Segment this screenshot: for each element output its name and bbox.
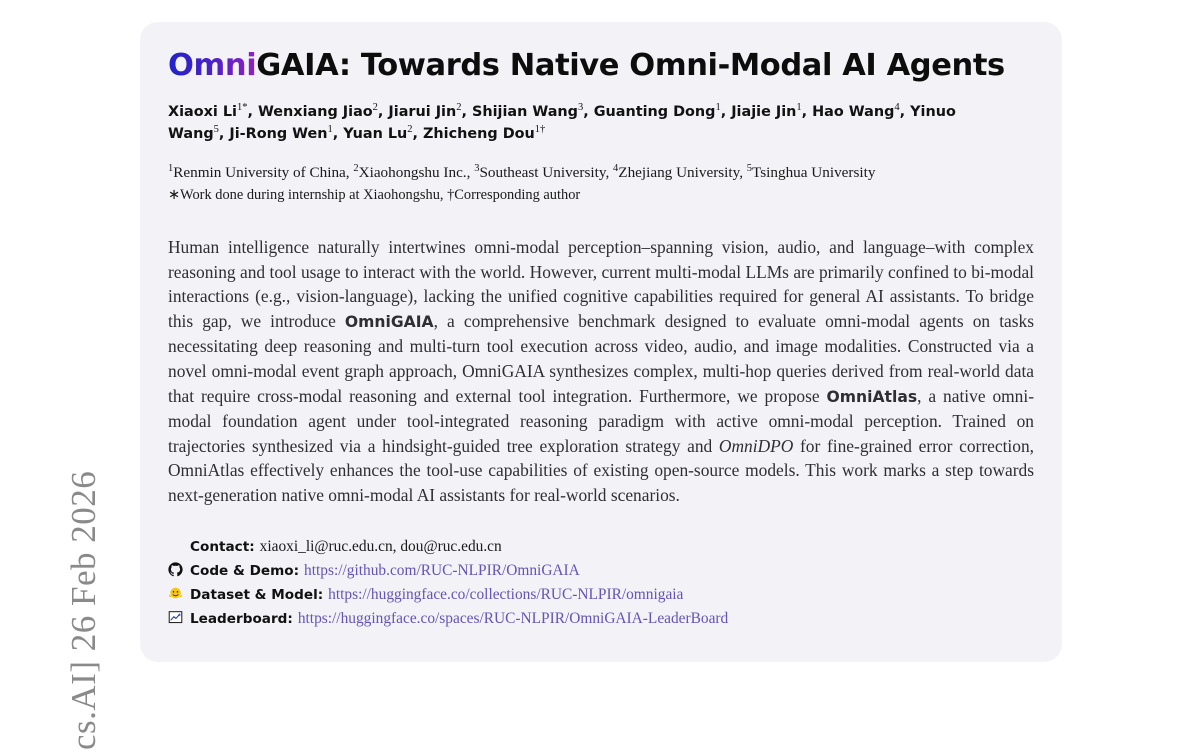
author-affiliation-marker: 1 xyxy=(796,102,801,113)
github-icon xyxy=(168,561,185,576)
links-block: Contact: xiaoxi_li@ruc.edu.cn, dou@ruc.e… xyxy=(168,535,1034,631)
author-affiliation-marker: 2 xyxy=(456,102,461,113)
dataset-model-row[interactable]: Dataset & Model: https://huggingface.co/… xyxy=(168,583,1034,607)
title-highlight: Omni xyxy=(168,48,256,83)
chart-increasing-icon xyxy=(168,609,185,624)
title-rest: GAIA: Towards Native Omni-Modal AI Agent… xyxy=(256,48,1004,83)
affiliation-name: Renmin University of China, xyxy=(173,164,349,181)
dataset-model-url[interactable]: https://huggingface.co/collections/RUC-N… xyxy=(328,583,683,607)
leaderboard-row[interactable]: Leaderboard: https://huggingface.co/spac… xyxy=(168,607,1034,631)
author-affiliation-marker: 1* xyxy=(237,102,248,113)
author-name: Jiajie Jin xyxy=(731,104,796,120)
code-demo-label: Code & Demo: xyxy=(190,559,299,583)
affiliation-footnote: ∗Work done during internship at Xiaohong… xyxy=(168,184,1034,207)
author-name: Hao Wang xyxy=(812,104,894,120)
affiliation-name: Xiaohongshu Inc., xyxy=(359,164,471,181)
dataset-model-label: Dataset & Model: xyxy=(190,583,323,607)
author-name: Jiarui Jin xyxy=(388,104,456,120)
affiliation-name: Tsinghua University xyxy=(752,164,875,181)
affiliation-list: 1Renmin University of China, 2Xiaohongsh… xyxy=(168,161,1034,207)
contact-label: Contact: xyxy=(190,535,255,559)
author-name: Shijian Wang xyxy=(472,104,578,120)
author-affiliation-marker: 1† xyxy=(535,124,546,135)
arxiv-margin-stamp: cs.AI] 26 Feb 2026 xyxy=(0,0,110,648)
author-affiliation-marker: 2 xyxy=(407,124,412,135)
author-affiliation-marker: 4 xyxy=(894,102,899,113)
code-demo-url[interactable]: https://github.com/RUC-NLPIR/OmniGAIA xyxy=(304,559,580,583)
page-title: OmniGAIA: Towards Native Omni-Modal AI A… xyxy=(168,48,1034,87)
hugging-face-icon xyxy=(168,585,185,600)
author-name: Ji-Rong Wen xyxy=(229,126,327,142)
author-name: Guanting Dong xyxy=(594,104,716,120)
author-name: Zhicheng Dou xyxy=(423,126,535,142)
author-list: Xiaoxi Li1*, Wenxiang Jiao2, Jiarui Jin2… xyxy=(168,101,968,145)
leaderboard-url[interactable]: https://huggingface.co/spaces/RUC-NLPIR/… xyxy=(298,607,728,631)
author-affiliation-marker: 5 xyxy=(214,124,219,135)
author-name: Yuan Lu xyxy=(343,126,407,142)
contact-emails: xiaoxi_li@ruc.edu.cn, dou@ruc.edu.cn xyxy=(260,535,502,559)
abstract-bold-omnigaia: OmniGAIA xyxy=(345,313,434,331)
paper-preview-card: OmniGAIA: Towards Native Omni-Modal AI A… xyxy=(140,22,1062,662)
author-affiliation-marker: 1 xyxy=(715,102,720,113)
abstract-text: Human intelligence naturally intertwines… xyxy=(168,235,1034,508)
author-name: Xiaoxi Li xyxy=(168,104,237,120)
abstract-italic-omnidpo: OmniDPO xyxy=(719,436,793,456)
abstract-bold-omniatlas: OmniAtlas xyxy=(827,388,918,406)
author-affiliation-marker: 2 xyxy=(373,102,378,113)
arxiv-stamp-text: cs.AI] 26 Feb 2026 xyxy=(64,190,104,750)
author-affiliation-marker: 3 xyxy=(578,102,583,113)
code-demo-row[interactable]: Code & Demo: https://github.com/RUC-NLPI… xyxy=(168,559,1034,583)
contact-row: Contact: xiaoxi_li@ruc.edu.cn, dou@ruc.e… xyxy=(168,535,1034,559)
affiliation-line: 1Renmin University of China, 2Xiaohongsh… xyxy=(168,161,1034,184)
leaderboard-label: Leaderboard: xyxy=(190,607,293,631)
author-name: Wenxiang Jiao xyxy=(258,104,373,120)
affiliation-name: Southeast University, xyxy=(479,164,609,181)
author-affiliation-marker: 1 xyxy=(328,124,333,135)
affiliation-name: Zhejiang University, xyxy=(618,164,743,181)
